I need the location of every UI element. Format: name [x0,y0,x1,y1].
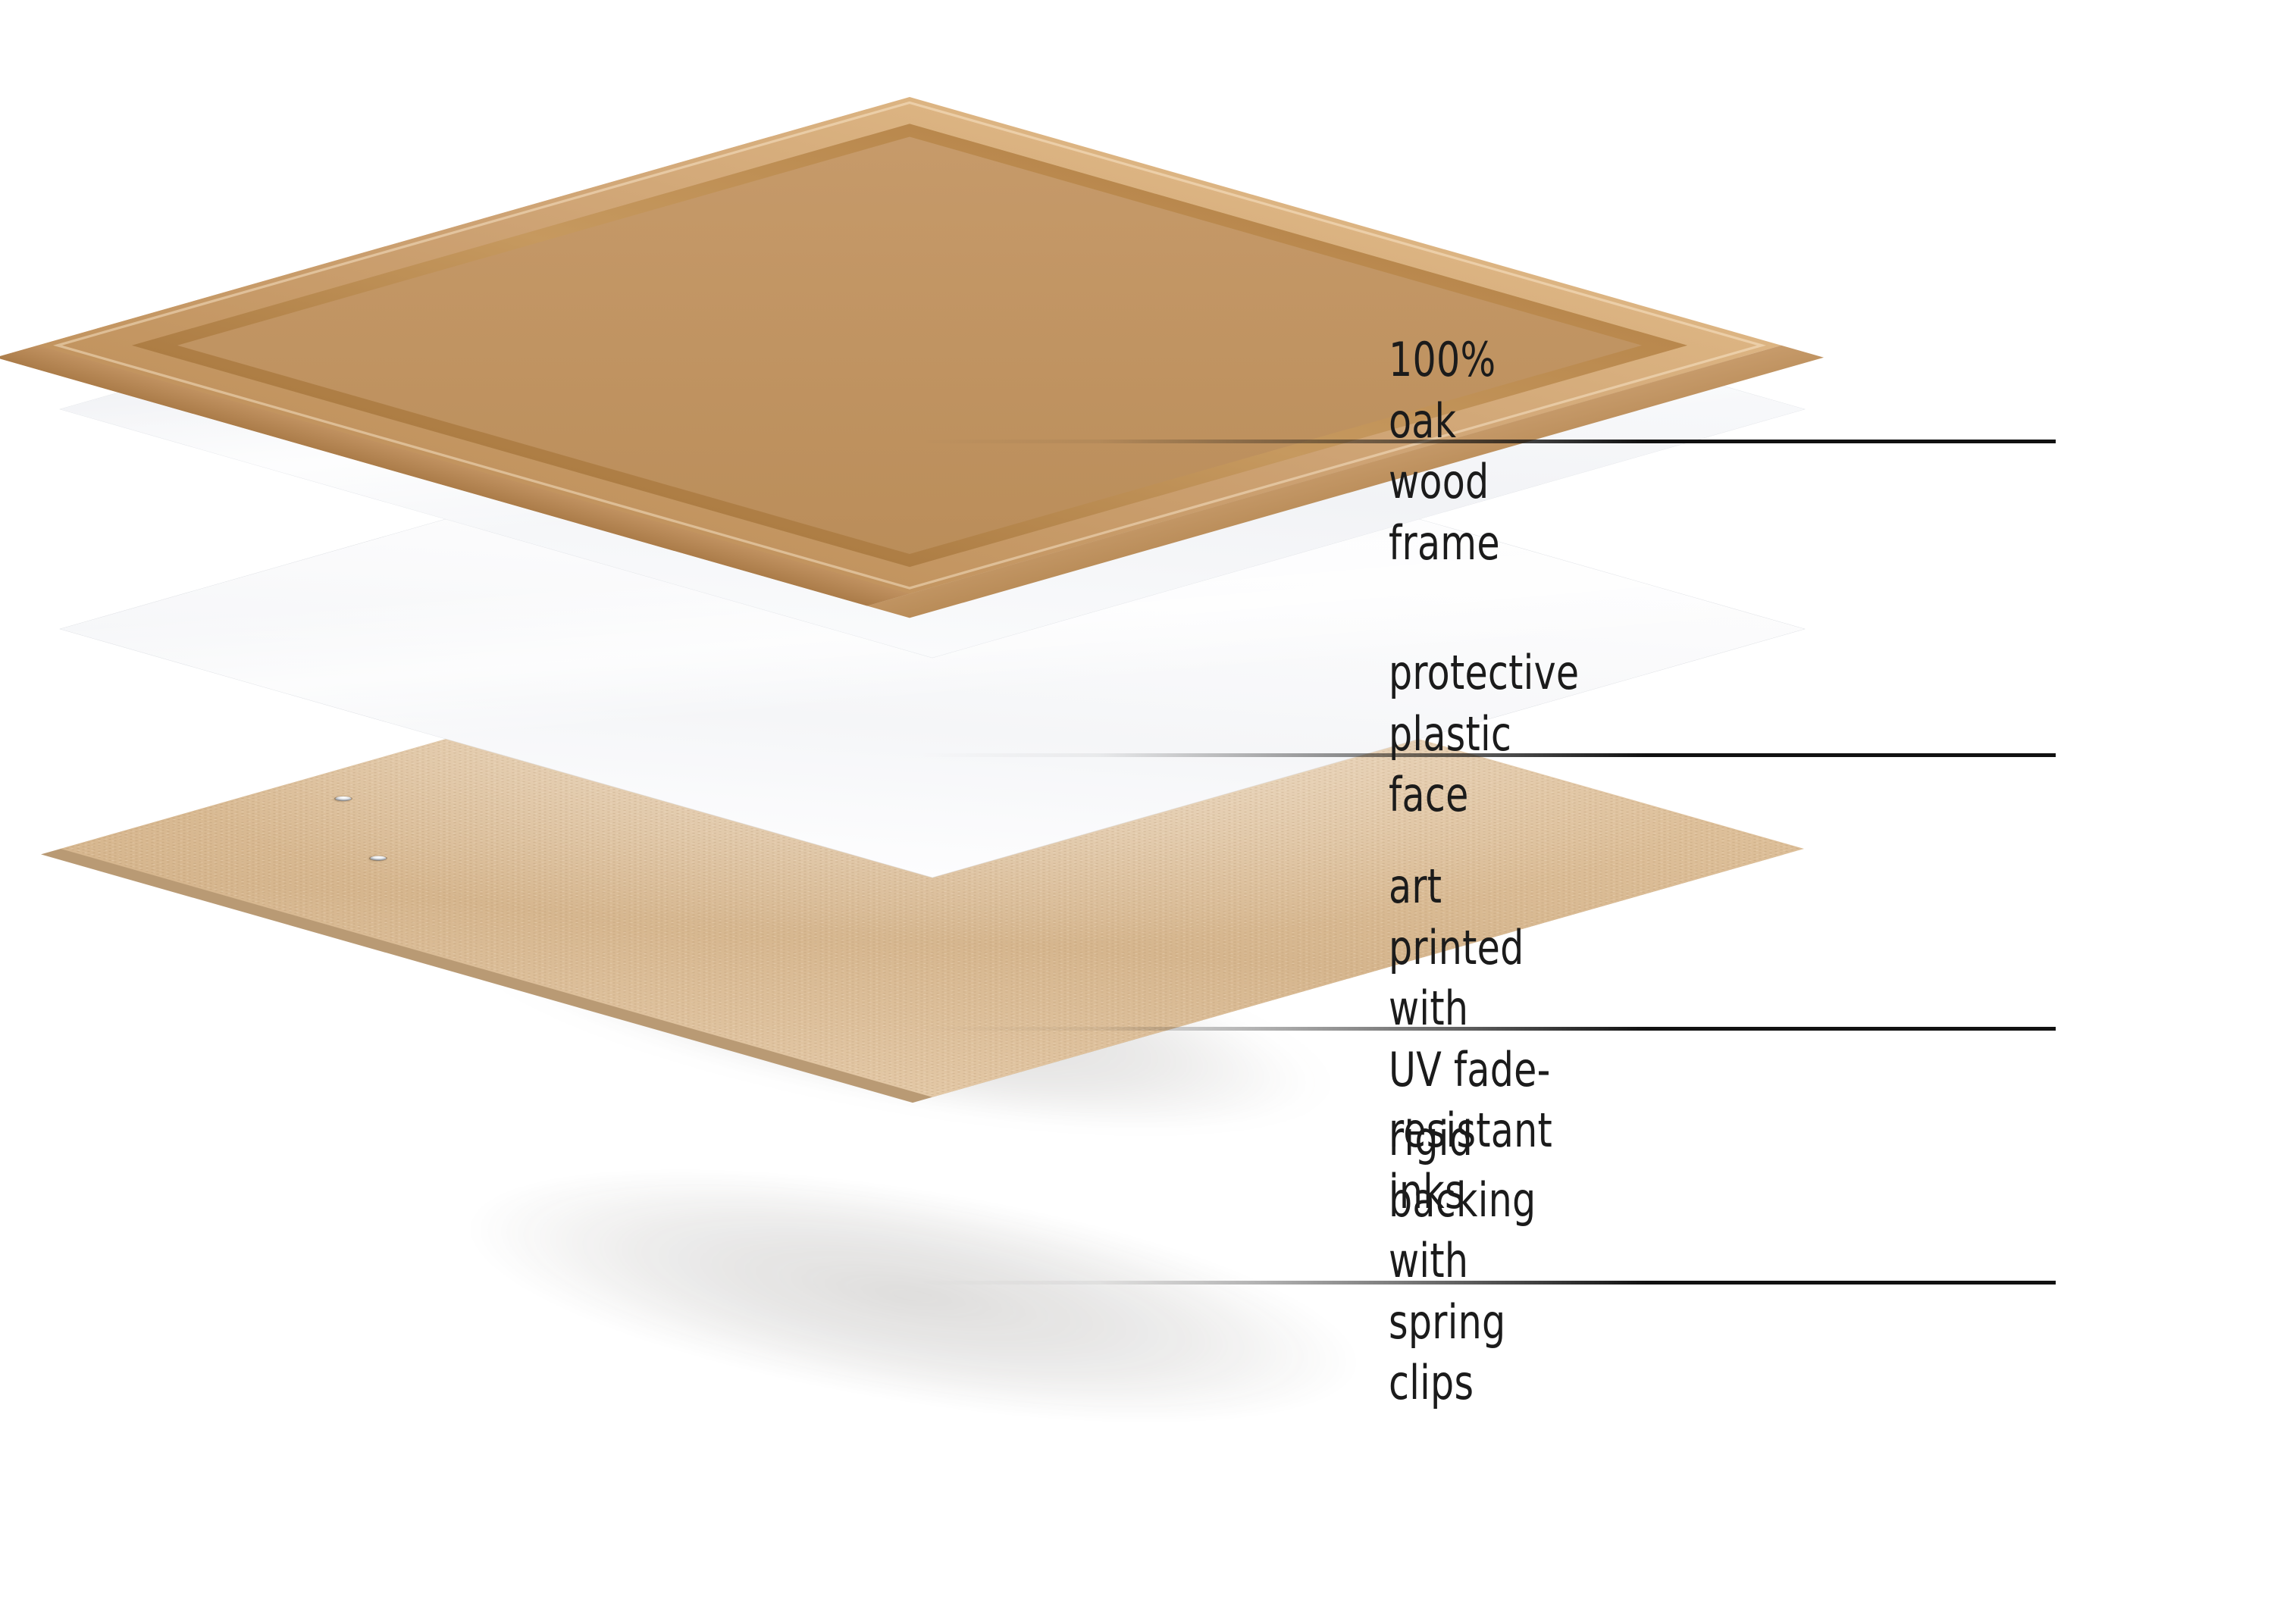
layer-oak-frame [334,97,2153,615]
backing-shadow [326,1128,1501,1463]
label-oak-frame: 100% oak wood frame [1389,330,1500,574]
diagram-canvas: 100% oak wood frame protective plastic f… [0,0,2274,1624]
oak-frame-graphic [0,97,2198,831]
label-rigid-backing: rigid backing with spring clips [1389,1109,1536,1414]
label-plastic-face: protective plastic face [1389,643,1579,826]
